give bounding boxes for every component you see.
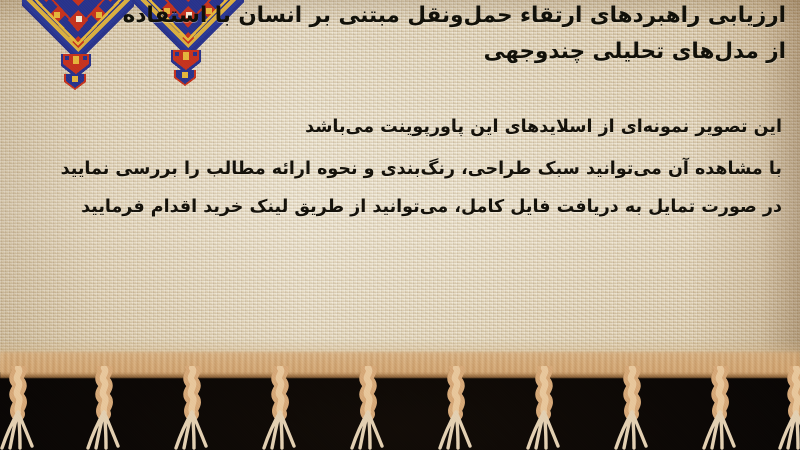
fringe-tassel <box>0 366 52 450</box>
slide-body-line-1: این تصویر نمونه‌ای از اسلایدهای این پاور… <box>22 108 782 146</box>
fringe-tassel <box>72 366 138 450</box>
persian-medallion-drop-left-lower <box>64 74 86 92</box>
slide-title-line-1: ارزیابی راهبردهای ارتقاء حمل‌ونقل مبتنی … <box>174 0 786 34</box>
slide-title: ارزیابی راهبردهای ارتقاء حمل‌ونقل مبتنی … <box>174 0 786 70</box>
fringe-tassel <box>336 366 402 450</box>
fringe-tassel <box>512 366 578 450</box>
fringe-tassel <box>424 366 490 450</box>
slide-title-line-2: از مدل‌های تحلیلی چندوجهی <box>174 34 786 70</box>
fringe-tassel <box>160 366 226 450</box>
carpet-fringe-tassels <box>0 366 800 450</box>
fringe-tassel <box>600 366 666 450</box>
slide-body: این تصویر نمونه‌ای از اسلایدهای این پاور… <box>22 108 782 226</box>
slide-canvas: ارزیابی راهبردهای ارتقاء حمل‌ونقل مبتنی … <box>0 0 800 450</box>
fringe-tassel <box>248 366 314 450</box>
fringe-tassel <box>688 366 754 450</box>
persian-medallion-drop-right-lower <box>174 70 196 88</box>
slide-body-line-3: در صورت تمایل به دریافت فایل کامل، می‌تو… <box>22 188 782 226</box>
fringe-tassel <box>764 366 800 450</box>
slide-body-line-2: با مشاهده آن می‌توانید سبک طراحی، رنگ‌بن… <box>22 150 782 188</box>
